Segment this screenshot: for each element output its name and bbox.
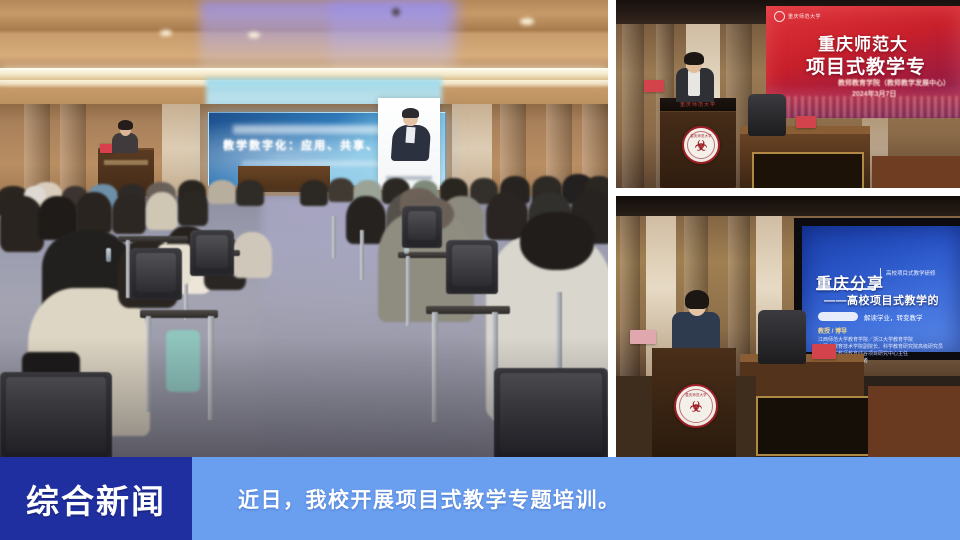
audience-person (76, 192, 112, 234)
desk-leg (360, 230, 364, 280)
stage-desk (740, 358, 864, 398)
stage-floor (872, 156, 960, 188)
water-bottle (106, 248, 111, 262)
chair-mesh (452, 245, 492, 286)
news-category-label: 综合新闻 (26, 475, 166, 523)
stage-floor (868, 386, 960, 457)
slide-bullet: 中国人教育技术学院副院长、科学教育研究院高级研究员 (818, 343, 943, 350)
led-headline-line2: 项目式教学专 (806, 52, 926, 79)
emblem-mark: ☣ (690, 400, 703, 414)
seat-chair (446, 240, 498, 294)
stage-poster (378, 98, 440, 190)
ceiling-spotlight (520, 18, 534, 25)
name-card (644, 80, 664, 92)
name-card (796, 116, 816, 128)
speaker-shirt (688, 70, 700, 96)
slide-title-divider (880, 268, 881, 286)
desk-front-panel (752, 152, 864, 188)
projected-slide: 重庆分享 高校项目式教学研修 ——高校项目式教学的 解读学业，转变教学 教授 /… (802, 226, 960, 352)
slide-bullet: 江西师范大学教育学院／浙江大学教育学院 (818, 336, 913, 343)
wall-panel (622, 24, 644, 188)
emblem-text: 重庆师范大学 (676, 392, 716, 397)
desk-leg (332, 216, 336, 258)
audience-person (112, 194, 146, 234)
audience-person (300, 180, 328, 206)
news-collage-page: 教学数字化：应用、共享、创新 (0, 0, 960, 540)
audience-person (178, 190, 208, 226)
slide-subtitle: ——高校项目式教学的 (824, 292, 939, 308)
slide-title-underline (816, 288, 874, 290)
led-subline-date: 2024年3月7日 (852, 89, 896, 99)
portrait-shirt (405, 127, 415, 144)
executive-chair (758, 310, 806, 364)
speaker-body (112, 133, 138, 153)
audience-person (146, 192, 178, 230)
led-logo-label: 重庆师范大学 (788, 13, 821, 20)
news-banner: 综合新闻 近日，我校开展项目式教学专题培训。 (0, 457, 960, 540)
name-card (812, 344, 836, 359)
slide-title: 重庆分享 (816, 270, 884, 294)
news-category-tag: 综合新闻 (0, 457, 192, 540)
audience-head-foreground (520, 212, 594, 270)
audience-person (208, 180, 236, 204)
led-logo: 重庆师范大学 (774, 11, 821, 22)
portrait-hair (402, 108, 419, 118)
university-emblem-icon: 重庆师范大学 ☣ (674, 384, 718, 428)
desk-leg (406, 256, 410, 326)
university-emblem-icon: 重庆师范大学 ☣ (682, 126, 720, 164)
podium-plate (104, 160, 148, 165)
university-logo-icon (774, 11, 785, 22)
photo-main-auditorium: 教学数字化：应用、共享、创新 (0, 0, 608, 457)
seat-chair (190, 230, 234, 276)
photo-collage: 教学数字化：应用、共享、创新 (0, 0, 960, 457)
led-backdrop: 重庆师范大学 重庆师范大 项目式教学专 教师教育学院（教师教学发展中心） 202… (766, 6, 960, 118)
photo-bottom-right-lecture: 重庆分享 高校项目式教学研修 ——高校项目式教学的 解读学业，转变教学 教授 /… (616, 196, 960, 457)
chair-mesh (136, 253, 176, 292)
audience-person (236, 180, 264, 206)
seat-chair (402, 206, 442, 248)
ceiling-spotlight (160, 30, 172, 36)
lectern: 重庆师范大学 重庆师范大学 ☣ (660, 98, 736, 188)
executive-chair (748, 94, 786, 136)
slide-tagline-pill (818, 312, 858, 321)
news-headline: 近日，我校开展项目式教学专题培训。 (238, 457, 940, 540)
slide-title-side-label: 高校项目式教学研修 (886, 269, 936, 277)
hall-vignette (0, 337, 608, 457)
emblem-mark: ☣ (695, 139, 708, 153)
speaker-hair (685, 290, 709, 309)
audience-person (346, 196, 386, 244)
slide-speaker-role: 教授 / 博导 (818, 326, 847, 335)
lectern-plate-label: 重庆师范大学 (660, 101, 736, 108)
poster-portrait (390, 110, 430, 162)
chair-mesh (408, 211, 436, 240)
speaker-hair (684, 52, 704, 65)
name-card (630, 330, 656, 344)
photo-top-right-opening: 重庆师范大学 重庆师范大 项目式教学专 教师教育学院（教师教学发展中心） 202… (616, 0, 960, 188)
ceiling-speaker-icon (392, 8, 400, 16)
led-subline-organizer: 教师教育学院（教师教学发展中心） (838, 78, 950, 88)
slide-tagline: 解读学业，转变教学 (864, 312, 923, 322)
audience-person (328, 178, 354, 202)
chair-mesh (196, 235, 228, 268)
desk-top (140, 310, 218, 318)
ceiling-spotlight (248, 32, 260, 38)
desk-front-panel (756, 396, 872, 456)
wall-panel (620, 216, 640, 376)
speaker-hair (118, 120, 133, 130)
seat-chair (130, 248, 182, 300)
